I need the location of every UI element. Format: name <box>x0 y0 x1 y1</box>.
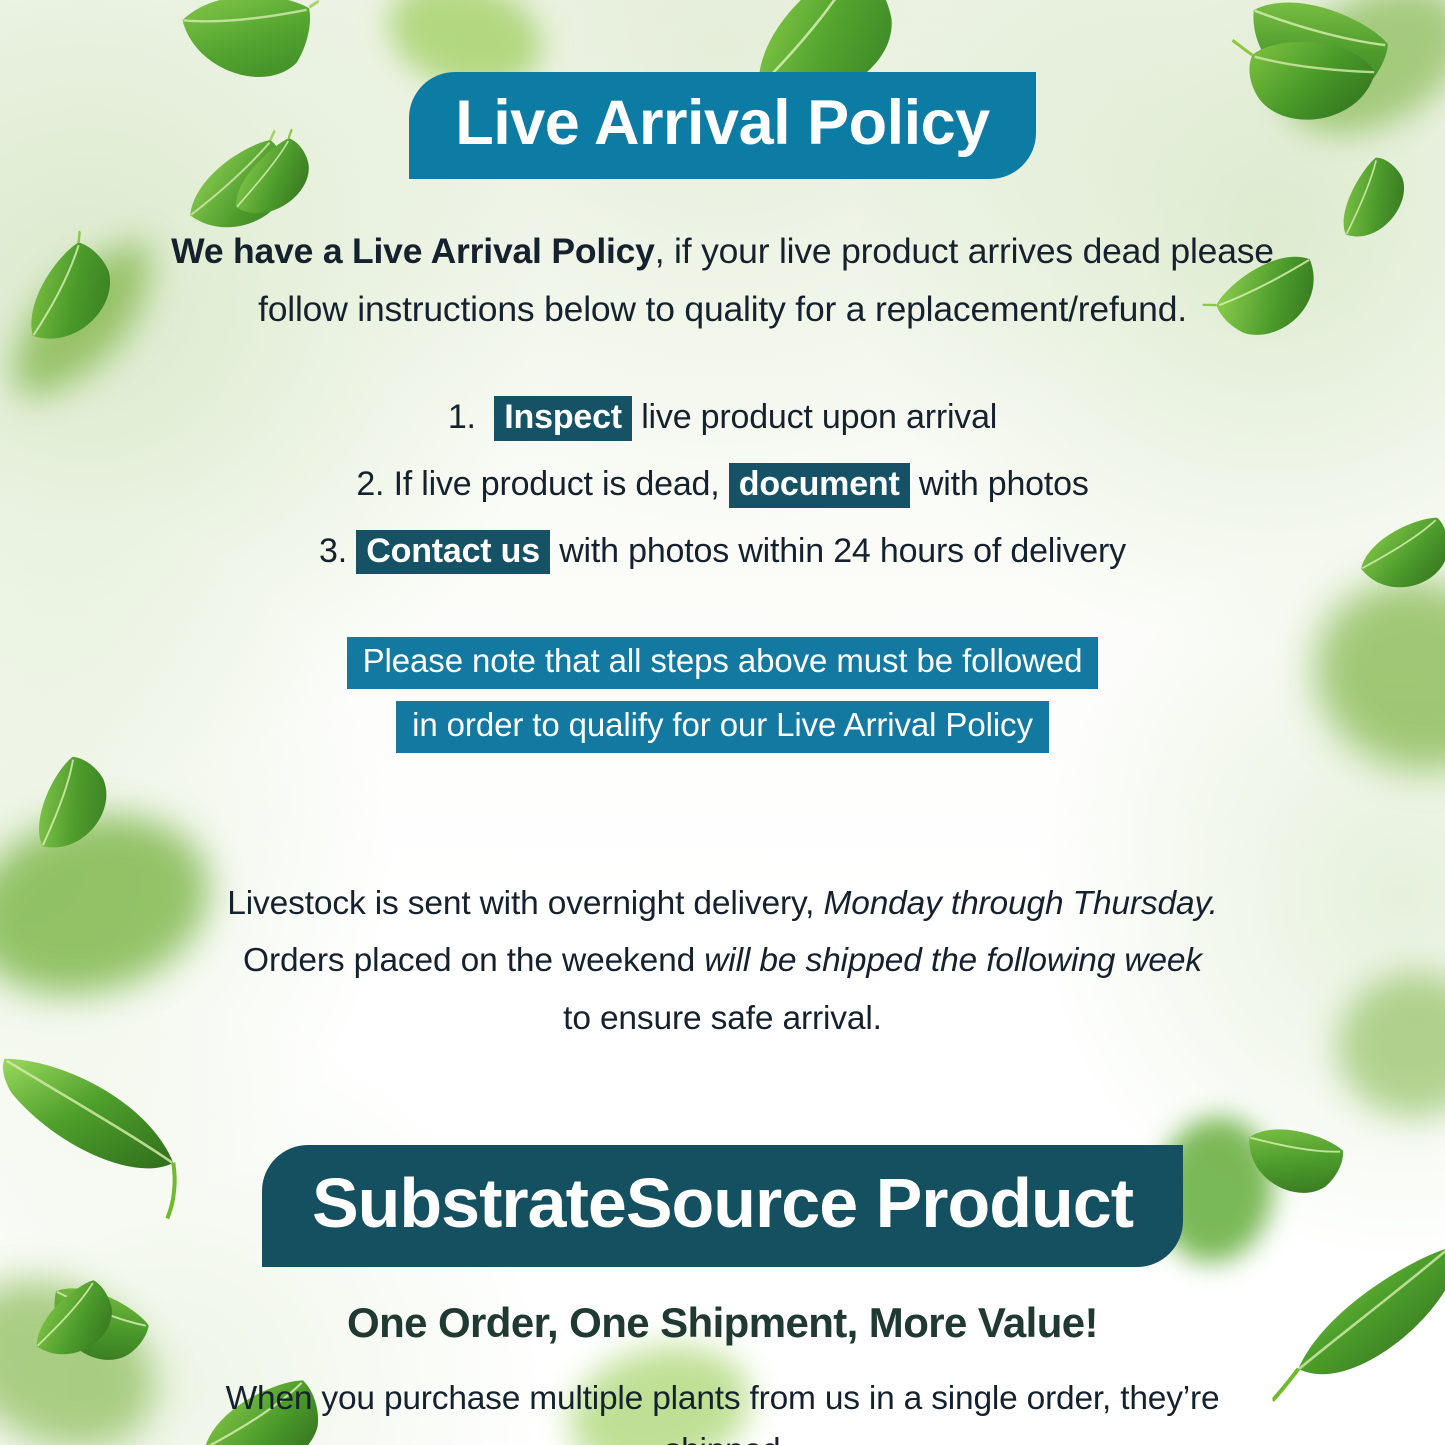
step-3-highlight-contact-us[interactable]: Contact us <box>356 530 550 575</box>
step-1: 1. Inspect live product upon arrival <box>103 394 1343 441</box>
note-line-1: Please note that all steps above must be… <box>347 637 1099 689</box>
step-2-before-text: If live product is dead, <box>394 465 720 503</box>
live-arrival-policy-banner: Live Arrival Policy <box>409 72 1035 179</box>
shipping-line1-italic: Monday through Thursday. <box>823 885 1217 922</box>
shipping-line2-italic: will be shipped the following week <box>704 942 1202 979</box>
intro-bold-phrase: We have a Live Arrival Policy <box>171 231 655 271</box>
note-line-2: in order to qualify for our Live Arrival… <box>396 701 1049 753</box>
shipping-line3: to ensure safe arrival. <box>563 1000 882 1037</box>
step-2-number: 2. <box>356 461 384 508</box>
note-line-1-wrap: Please note that all steps above must be… <box>0 637 1445 689</box>
substrate-body-line1: When you purchase multiple plants from u… <box>226 1380 1220 1445</box>
step-2-highlight-document: document <box>729 463 910 508</box>
step-3-number: 3. <box>319 528 347 575</box>
shipping-line2-plain: Orders placed on the weekend <box>243 942 695 979</box>
step-1-highlight-inspect: Inspect <box>494 396 632 441</box>
shipping-line1-plain: Livestock is sent with overnight deliver… <box>227 885 814 922</box>
step-2: 2. If live product is dead, document wit… <box>103 461 1343 508</box>
step-3: 3. Contact us with photos within 24 hour… <box>103 528 1343 575</box>
substrate-body-paragraph: When you purchase multiple plants from u… <box>178 1373 1268 1445</box>
intro-paragraph: We have a Live Arrival Policy, if your l… <box>163 223 1283 338</box>
substrate-banner-wrap: SubstrateSource Product <box>0 1145 1445 1267</box>
step-2-after-text: with photos <box>919 465 1089 503</box>
live-arrival-banner-wrap: Live Arrival Policy <box>0 0 1445 179</box>
step-3-after-text: with photos within 24 hours of delivery <box>559 532 1126 570</box>
step-1-after-text: live product upon arrival <box>641 398 997 436</box>
note-line-2-wrap: in order to qualify for our Live Arrival… <box>0 701 1445 753</box>
step-1-number: 1. <box>448 394 476 441</box>
page-content: Live Arrival Policy We have a Live Arriv… <box>0 0 1445 1445</box>
shipping-paragraph: Livestock is sent with overnight deliver… <box>218 875 1228 1048</box>
steps-list: 1. Inspect live product upon arrival 2. … <box>103 394 1343 575</box>
substrate-subheading: One Order, One Shipment, More Value! <box>0 1299 1445 1347</box>
policy-note-block: Please note that all steps above must be… <box>0 637 1445 753</box>
substratesource-product-banner: SubstrateSource Product <box>262 1145 1183 1267</box>
